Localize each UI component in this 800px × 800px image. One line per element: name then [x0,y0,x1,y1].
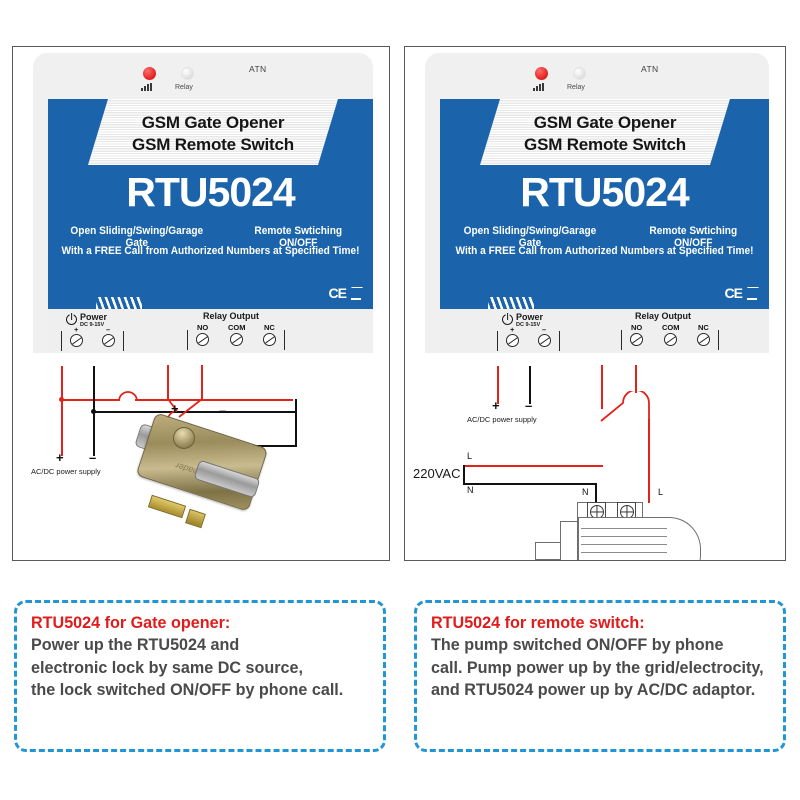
relay-pin-nc-label: NC [264,323,275,332]
power-terminal-subtitle: DC 9-15V [80,322,104,328]
caption-right-body: The pump switched ON/OFF by phone call. … [431,634,754,702]
motor-fin [581,544,667,545]
relay-bracket-right [718,330,719,350]
power-terminal-screw-minus [538,334,551,347]
power-bracket-right [559,331,560,351]
product-wiring-infographic: Relay ATN GSM Gate Opener GSM Remote Swi… [0,0,800,800]
signal-led [535,67,548,80]
relay-terminal-screw-nc [263,333,276,346]
power-terminal-screw-plus [506,334,519,347]
weee-bin-icon [747,287,757,300]
power-terminal-screw-minus [102,334,115,347]
signal-bars-icon [533,83,544,91]
motor-shaft [535,542,561,560]
diagram-panel-remote-switch: Relay ATN GSM Gate Opener GSM Remote Swi… [404,46,786,561]
caption-left-body: Power up the RTU5024 and electronic lock… [31,634,354,702]
power-supply-caption: AC/DC power supply [31,467,101,476]
tagline-row-2: With a FREE Call from Authorized Numbers… [453,245,756,257]
terminal-strip-right: Power DC 9-15V + – Relay Output NO COM N… [440,309,769,353]
caption-left-title: RTU5024 for Gate opener: [31,613,354,633]
caption-box-remote-switch: RTU5024 for remote switch: The pump swit… [414,600,786,752]
relay-bracket-left [187,330,188,350]
label-headline: GSM Gate Opener GSM Remote Switch [88,101,338,167]
caption-box-gate-opener: RTU5024 for Gate opener: Power up the RT… [14,600,386,752]
product-label-right: GSM Gate Opener GSM Remote Switch RTU502… [440,99,769,309]
certification-marks: CE [329,285,361,301]
headline-line-2: GSM Remote Switch [524,134,686,156]
caption-left-line-3: the lock switched ON/OFF by phone call. [31,679,354,702]
relay-led-label: Relay [175,84,193,91]
motor-housing [578,517,670,561]
mains-bracket [463,465,465,485]
power-bracket-right [123,331,124,351]
relay-pin-nc-label: NC [698,323,709,332]
relay-terminal-title: Relay Output [203,311,259,321]
signal-led [143,67,156,80]
caption-right-line-2: call. Pump power up by the grid/electroc… [431,657,754,680]
product-label: GSM Gate Opener GSM Remote Switch RTU502… [48,99,373,309]
power-pin-plus-label: + [510,325,514,334]
relay-led-label: Relay [567,84,585,91]
relay-pin-no-label: NO [631,323,642,332]
wire-mains-neutral [465,483,597,485]
relay-pin-com-label: COM [228,323,246,332]
power-supply-caption: AC/DC power supply [467,415,537,424]
junction-dot-red [59,397,64,402]
supply-plus-symbol: + [56,451,64,464]
wire-hop-red [117,387,139,403]
label-headline: GSM Gate Opener GSM Remote Switch [480,101,730,167]
signal-bars-icon [141,83,152,91]
wire-motor-neutral [595,483,597,503]
motor-fin [581,552,667,553]
supply-minus-symbol: – [89,451,96,464]
mains-live-label: L [467,451,472,461]
power-pin-plus-label: + [74,325,78,334]
wire-mains-live [465,465,603,467]
relay-terminal-screw-com [230,333,243,346]
caption-right-line-1: The pump switched ON/OFF by phone [431,634,754,657]
ce-icon: CE [329,285,346,301]
relay-pin-no-label: NO [197,323,208,332]
supply-minus-symbol: – [525,399,532,412]
relay-terminal-screw-com [664,333,677,346]
wire-relay-com-vertical [635,365,637,393]
relay-bracket-right [284,330,285,350]
wire-relay-no-vertical [167,365,169,399]
device-indicator-strip-right: Relay ATN [425,53,769,99]
wire-red-bus-left [61,399,119,401]
certification-marks: CE [725,285,757,301]
motor-fin [581,528,667,529]
caption-left-line-1: Power up the RTU5024 and [31,634,354,657]
antenna-label: ATN [641,64,659,74]
power-terminal-title: Power [80,312,107,322]
ce-icon: CE [725,285,742,301]
tagline-row-2: With a FREE Call from Authorized Numbers… [61,245,360,257]
mains-neutral-label: N [467,485,474,495]
weee-bin-icon [351,287,361,300]
relay-terminal-screw-no [630,333,643,346]
motor-end-bell-left [560,521,578,561]
relay-led [181,67,194,80]
relay-pin-com-label: COM [662,323,680,332]
model-name: RTU5024 [48,169,373,216]
relay-terminal-screw-no [196,333,209,346]
wire-lock-minus-vertical [295,399,297,447]
power-pin-minus-label: – [542,325,546,334]
motor-fin [581,560,667,561]
label-hatch-graphic [96,297,142,309]
wire-power-plus-vertical [61,366,63,456]
antenna-label: ATN [249,64,267,74]
relay-led [573,67,586,80]
terminal-strip: Power DC 9-15V + – Relay Output NO COM N… [48,309,373,353]
lock-bolt-main [148,495,186,518]
wire-relay-com-vertical [201,365,203,399]
caption-right-title: RTU5024 for remote switch: [431,613,754,633]
wire-motor-live [648,419,650,503]
power-terminal-screw-plus [70,334,83,347]
relay-terminal-screw-nc [697,333,710,346]
lock-bolt-latch [185,509,206,529]
device-rtu5024-right: Relay ATN GSM Gate Opener GSM Remote Swi… [425,53,769,353]
headline-line-1: GSM Gate Opener [142,112,284,134]
power-terminal-subtitle: DC 9-15V [516,322,540,328]
model-name: RTU5024 [440,169,769,216]
relay-terminal-title: Relay Output [635,311,691,321]
device-indicator-strip: Relay ATN [33,53,373,99]
wire-relay-arc [591,391,671,423]
power-icon [66,314,77,325]
power-terminal-title: Power [516,312,543,322]
power-icon [502,314,513,325]
motor-fan-cover [669,517,701,561]
device-rtu5024-left: Relay ATN GSM Gate Opener GSM Remote Swi… [33,53,373,353]
relay-bracket-left [621,330,622,350]
power-pin-minus-label: – [106,325,110,334]
power-bracket-left [61,331,62,351]
lock-minus-symbol: – [219,404,226,417]
diagram-panel-gate-opener: Relay ATN GSM Gate Opener GSM Remote Swi… [12,46,390,561]
label-hatch-graphic [488,297,534,309]
motor-neutral-label: N [582,487,589,497]
headline-line-2: GSM Remote Switch [132,134,294,156]
caption-right-line-3: and RTU5024 power up by AC/DC adaptor. [431,679,754,702]
junction-dot-black [91,409,96,414]
lock-plus-symbol: + [171,402,179,415]
headline-line-1: GSM Gate Opener [534,112,676,134]
supply-plus-symbol: + [492,399,500,412]
mains-voltage-label: 220VAC [413,466,460,481]
caption-left-line-2: electronic lock by same DC source, [31,657,354,680]
motor-live-label: L [658,487,663,497]
motor-fin [581,536,667,537]
power-bracket-left [497,331,498,351]
